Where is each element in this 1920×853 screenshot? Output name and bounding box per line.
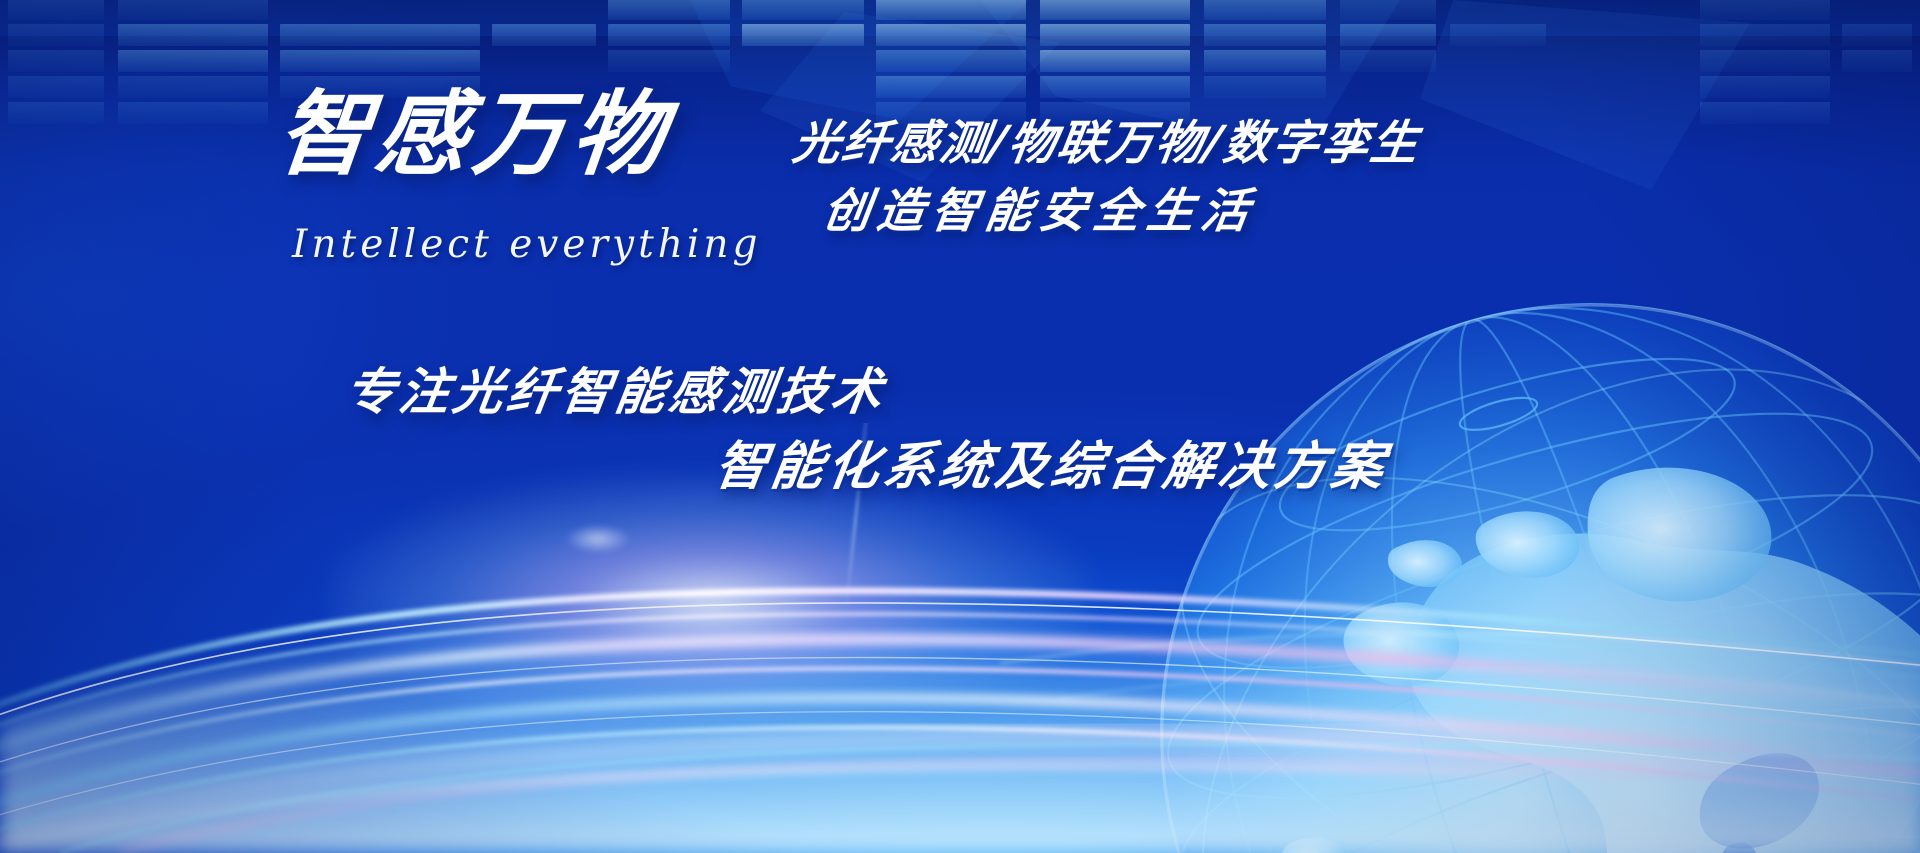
tagline-primary: 光纤感测/物联万物/数字孪生 [789,104,1425,173]
slogan-line-1: 专注光纤智能感测技术 [341,352,891,424]
slogan-line-2: 智能化系统及综合解决方案 [711,424,1394,499]
page-title: 智感万物 [273,88,675,180]
page-subtitle-english: Intellect everything [292,222,761,267]
hero-banner: 智感万物 Intellect everything 光纤感测/物联万物/数字孪生… [0,0,1920,853]
tagline-secondary: 创造智能安全生活 [819,172,1261,241]
